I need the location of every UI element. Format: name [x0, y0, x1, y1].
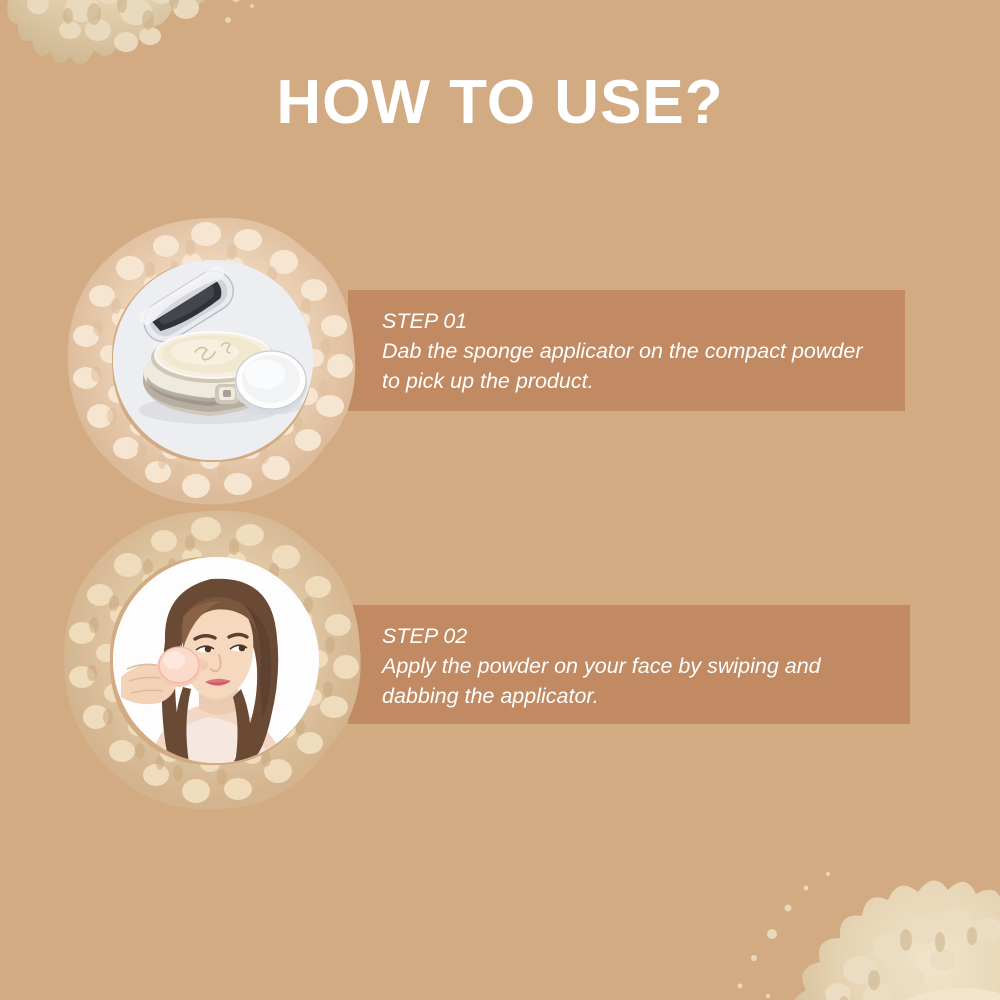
- woman-applying-powder-photo: [113, 557, 319, 763]
- step-row-1: STEP 01 Dab the sponge applicator on the…: [0, 205, 1000, 505]
- woman-applying-powder-illustration-icon: [113, 557, 319, 763]
- step-2-medallion: [58, 505, 368, 815]
- step-2-description: Apply the powder on your face by swiping…: [382, 651, 888, 711]
- step-row-2: STEP 02 Apply the powder on your face by…: [0, 505, 1000, 825]
- step-1-text-panel: STEP 01 Dab the sponge applicator on the…: [348, 290, 905, 411]
- compact-powder-illustration-icon: [113, 260, 313, 460]
- page-title: HOW TO USE?: [0, 72, 1000, 134]
- compact-powder-photo: [113, 260, 313, 460]
- step-1-label: STEP 01: [382, 306, 883, 336]
- step-2-text-panel: STEP 02 Apply the powder on your face by…: [348, 605, 910, 724]
- how-to-use-infographic: HOW TO USE? STEP 01 Dab the sponge appli…: [0, 0, 1000, 1000]
- step-2-label: STEP 02: [382, 621, 888, 651]
- step-1-description: Dab the sponge applicator on the compact…: [382, 336, 883, 396]
- step-1-medallion: [62, 210, 362, 510]
